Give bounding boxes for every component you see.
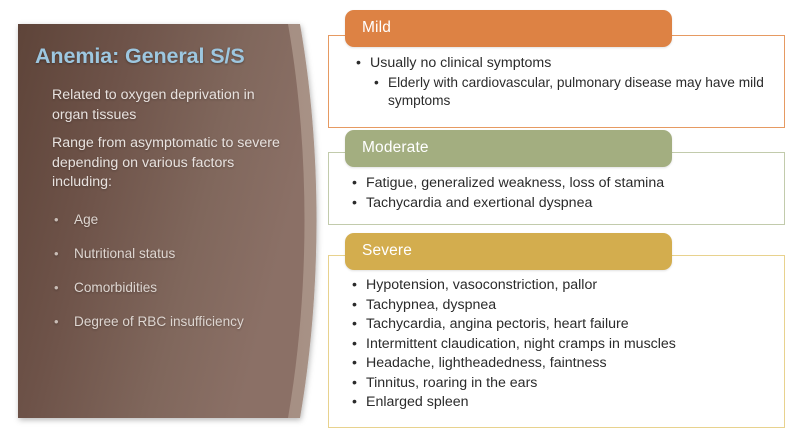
list-item-label: Tachypnea, dyspnea xyxy=(366,297,496,313)
bullet-dot-icon: • xyxy=(54,314,59,330)
page-title: Anemia: General S/S xyxy=(35,44,295,69)
bullet-dot-icon: • xyxy=(352,374,357,394)
slide-canvas: Anemia: General S/S Related to oxygen de… xyxy=(0,0,792,438)
list-item-label: Enlarged spleen xyxy=(366,394,469,410)
bullet-dot-icon: • xyxy=(352,335,357,355)
bullet-dot-icon: • xyxy=(352,296,357,316)
card-heading-moderate: Moderate xyxy=(345,130,672,167)
card-list-moderate: • Fatigue, generalized weakness, loss of… xyxy=(352,174,767,213)
list-item-label: Hypotension, vasoconstriction, pallor xyxy=(366,277,597,293)
bullet-dot-icon: • xyxy=(54,280,59,296)
list-item: • Headache, lightheadedness, faintness xyxy=(352,354,767,374)
bullet-dot-icon: • xyxy=(356,54,361,74)
panel-paragraph: Related to oxygen deprivation in organ t… xyxy=(52,86,292,125)
list-item-label: Comorbidities xyxy=(74,280,157,295)
list-item-label: Elderly with cardiovascular, pulmonary d… xyxy=(388,75,764,109)
card-list-mild: • Usually no clinical symptoms • Elderly… xyxy=(356,54,766,111)
list-item: • Nutritional status xyxy=(52,246,302,262)
list-item: • Usually no clinical symptoms xyxy=(356,54,766,74)
bullet-dot-icon: • xyxy=(352,315,357,335)
list-item-label: Nutritional status xyxy=(74,246,175,261)
list-item-label: Age xyxy=(74,212,98,227)
list-item: • Hypotension, vasoconstriction, pallor xyxy=(352,276,767,296)
list-item: • Comorbidities xyxy=(52,280,302,296)
list-item-label: Headache, lightheadedness, faintness xyxy=(366,355,607,371)
list-item: • Elderly with cardiovascular, pulmonary… xyxy=(356,74,766,111)
list-item-label: Degree of RBC insufficiency xyxy=(74,314,244,329)
panel-content: Anemia: General S/S Related to oxygen de… xyxy=(0,0,330,438)
bullet-dot-icon: • xyxy=(352,393,357,413)
bullet-dot-icon: • xyxy=(54,246,59,262)
list-item: • Tinnitus, roaring in the ears xyxy=(352,374,767,394)
panel-paragraph: Range from asymptomatic to severe depend… xyxy=(52,134,292,193)
bullet-dot-icon: • xyxy=(54,212,59,228)
list-item-label: Tachycardia, angina pectoris, heart fail… xyxy=(366,316,629,332)
panel-bullet-list: • Age • Nutritional status • Comorbiditi… xyxy=(52,212,302,348)
list-item-label: Tinnitus, roaring in the ears xyxy=(366,375,537,391)
bullet-dot-icon: • xyxy=(352,276,357,296)
list-item-label: Fatigue, generalized weakness, loss of s… xyxy=(366,175,664,191)
bullet-dot-icon: • xyxy=(374,74,379,93)
list-item: • Age xyxy=(52,212,302,228)
list-item: • Tachycardia, angina pectoris, heart fa… xyxy=(352,315,767,335)
list-item: • Tachypnea, dyspnea xyxy=(352,296,767,316)
list-item: • Enlarged spleen xyxy=(352,393,767,413)
bullet-dot-icon: • xyxy=(352,174,357,194)
card-list-severe: • Hypotension, vasoconstriction, pallor … xyxy=(352,276,767,413)
list-item: • Tachycardia and exertional dyspnea xyxy=(352,194,767,214)
card-heading-mild: Mild xyxy=(345,10,672,47)
card-heading-severe: Severe xyxy=(345,233,672,270)
left-info-panel: Anemia: General S/S Related to oxygen de… xyxy=(0,0,330,438)
bullet-dot-icon: • xyxy=(352,194,357,214)
list-item: • Intermittent claudication, night cramp… xyxy=(352,335,767,355)
list-item: • Fatigue, generalized weakness, loss of… xyxy=(352,174,767,194)
list-item-label: Usually no clinical symptoms xyxy=(370,55,551,71)
list-item: • Degree of RBC insufficiency xyxy=(52,314,302,330)
panel-paragraphs: Related to oxygen deprivation in organ t… xyxy=(52,86,292,202)
bullet-dot-icon: • xyxy=(352,354,357,374)
list-item-label: Tachycardia and exertional dyspnea xyxy=(366,195,592,211)
list-item-label: Intermittent claudication, night cramps … xyxy=(366,336,676,352)
